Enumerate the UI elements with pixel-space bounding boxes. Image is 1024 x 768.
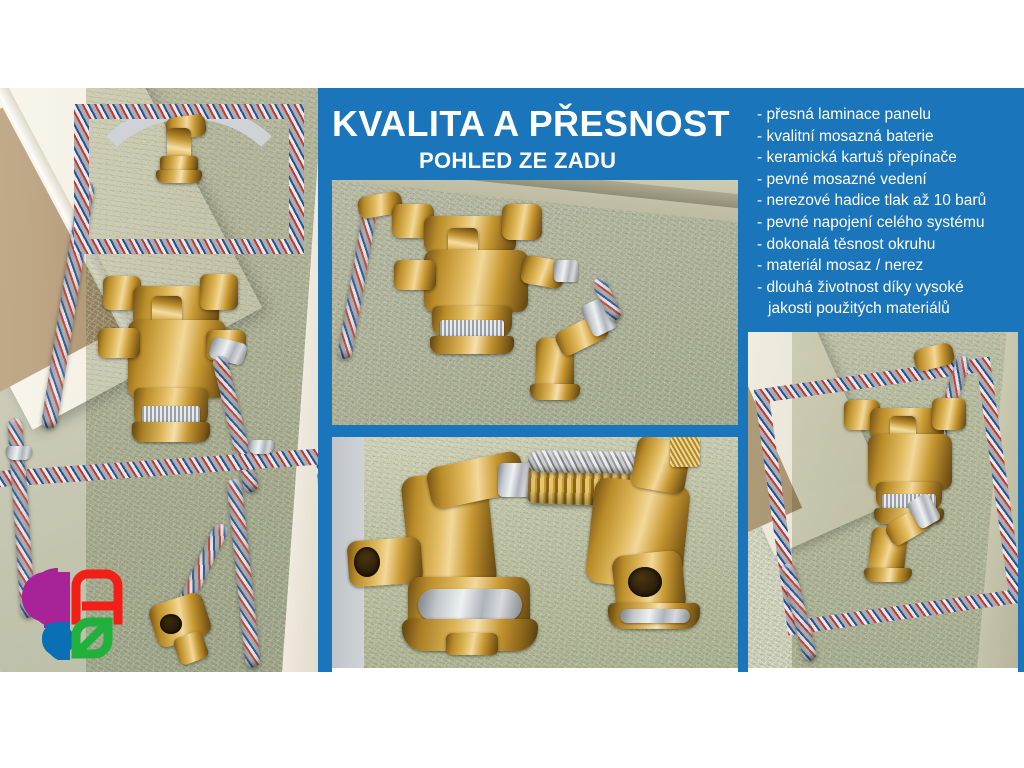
brand-logo[interactable]	[14, 558, 126, 662]
mt-right-chrome-tip	[554, 260, 578, 282]
feature-item: - materiál mosaz / nerez	[757, 255, 1019, 277]
mb-right-flange-ring	[620, 609, 690, 623]
manifold-right-elbow	[200, 274, 238, 310]
r-loose-flange	[864, 568, 912, 582]
mb-left-bore	[354, 547, 380, 577]
photo-right	[748, 330, 1024, 668]
mounting-stud-left	[6, 446, 32, 460]
feature-item: - kvalitní mosazná baterie	[757, 126, 1019, 148]
mb-base-ring	[418, 589, 522, 621]
loose-end-bore	[160, 614, 182, 634]
page-subtitle: POHLED ZE ZADU	[419, 148, 616, 174]
feature-list: - přesná laminace panelu - kvalitní mosa…	[757, 104, 1019, 320]
blue-left-rail	[318, 88, 332, 672]
mt-base-flange	[430, 336, 514, 354]
mb-right-bore	[628, 567, 662, 597]
feature-item: - keramická kartuš přepínače	[757, 147, 1019, 169]
blue-mid-rail	[738, 88, 748, 672]
feature-item: - přesná laminace panelu	[757, 104, 1019, 126]
feature-item-continuation: jakosti použitých materiálů	[757, 298, 1019, 320]
feature-item: - pevné mosazné vedení	[757, 169, 1019, 191]
slide-canvas: KVALITA A PŘESNOST POHLED ZE ZADU - přes…	[0, 0, 1024, 768]
page-title: KVALITA A PŘESNOST	[332, 103, 730, 145]
mt-body	[424, 250, 528, 312]
feature-item: - dlouhá životnost díky vysoké	[757, 277, 1019, 299]
feature-item: - dokonalá těsnost okruhu	[757, 234, 1019, 256]
manifold-lower-left-port	[98, 328, 140, 358]
brand-logo-icon	[14, 558, 126, 662]
upper-flange	[156, 170, 202, 183]
r-right-elbow	[932, 398, 966, 430]
photo-middle-top	[332, 180, 738, 425]
mounting-stud-right	[248, 440, 274, 454]
blue-photo-divider	[318, 425, 748, 437]
base-flange-nut	[132, 422, 210, 442]
mt-right-elbow	[502, 204, 542, 240]
photo-middle-bottom	[332, 437, 738, 668]
mb-base-spoke	[446, 633, 498, 655]
mt-standalone-flange	[530, 384, 580, 400]
feature-item: - nerezové hadice tlak až 10 barů	[757, 190, 1019, 212]
feature-item: - pevné napojení celého systému	[757, 212, 1019, 234]
mb-right-thread-tip	[670, 437, 700, 467]
mt-lower-left-port	[394, 260, 436, 290]
